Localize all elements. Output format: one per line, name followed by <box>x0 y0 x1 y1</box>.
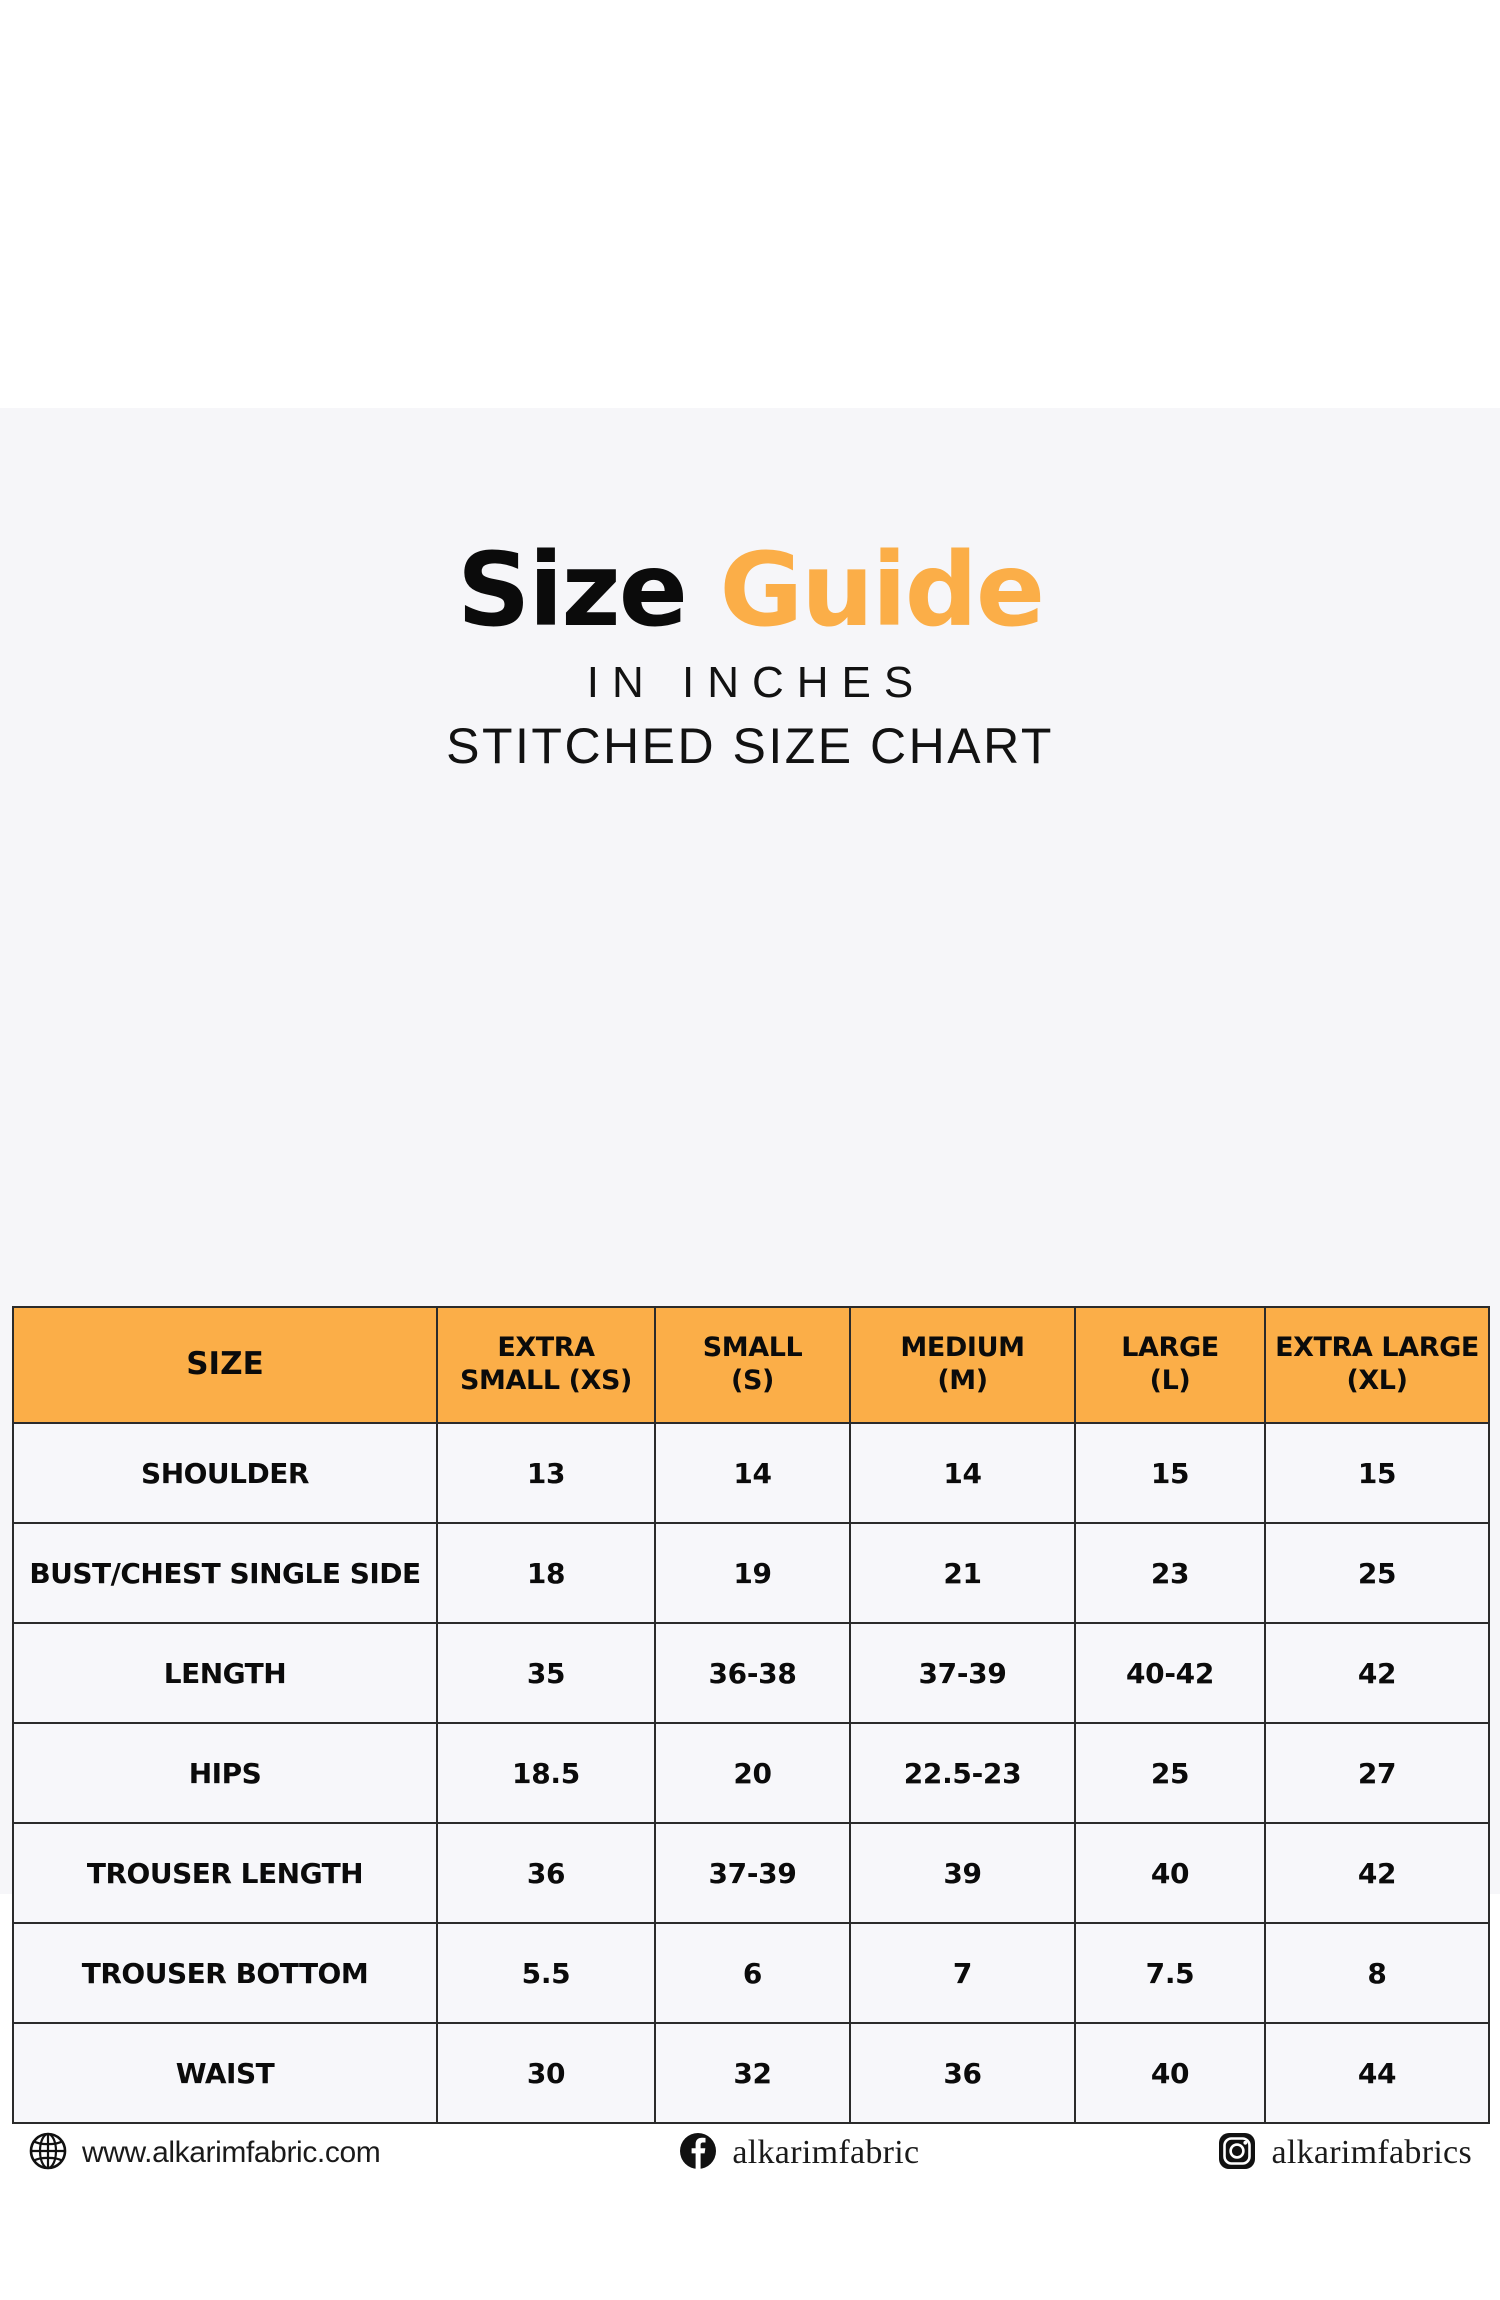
cell-trouser-length-xl: 42 <box>1265 1823 1489 1923</box>
subtitle-chart-type: STITCHED SIZE CHART <box>0 720 1500 773</box>
cell-trouser-bottom-s: 6 <box>655 1923 850 2023</box>
column-header-xs: EXTRA SMALL (XS) <box>437 1307 655 1423</box>
row-label-trouser-bottom: TROUSER BOTTOM <box>13 1923 437 2023</box>
table-row: BUST/CHEST SINGLE SIDE 18 19 21 23 25 <box>13 1523 1489 1623</box>
cell-bust-xs: 18 <box>437 1523 655 1623</box>
footer: www.alkarimfabric.com alkarimfabric <box>0 2108 1500 2198</box>
footer-facebook-label: alkarimfabric <box>732 2134 919 2172</box>
cell-bust-s: 19 <box>655 1523 850 1623</box>
cell-shoulder-m: 14 <box>850 1423 1075 1523</box>
row-label-hips: HIPS <box>13 1723 437 1823</box>
column-header-s-line1: SMALL <box>703 1332 803 1363</box>
cell-hips-xl: 27 <box>1265 1723 1489 1823</box>
row-label-bust-chest: BUST/CHEST SINGLE SIDE <box>13 1523 437 1623</box>
column-header-m-line1: MEDIUM <box>900 1332 1024 1363</box>
cell-hips-m: 22.5-23 <box>850 1723 1075 1823</box>
cell-shoulder-l: 15 <box>1075 1423 1265 1523</box>
cell-shoulder-xl: 15 <box>1265 1423 1489 1523</box>
cell-bust-l: 23 <box>1075 1523 1265 1623</box>
cell-trouser-length-m: 39 <box>850 1823 1075 1923</box>
column-header-xs-line2: SMALL (XS) <box>460 1365 632 1396</box>
column-header-s: SMALL (S) <box>655 1307 850 1423</box>
row-label-length: LENGTH <box>13 1623 437 1723</box>
column-header-size: SIZE <box>13 1307 437 1423</box>
cell-hips-xs: 18.5 <box>437 1723 655 1823</box>
facebook-icon <box>678 2131 718 2176</box>
cell-length-xl: 42 <box>1265 1623 1489 1723</box>
page-title-accent: Guide <box>720 531 1044 650</box>
cell-length-m: 37-39 <box>850 1623 1075 1723</box>
column-header-m-line2: (M) <box>937 1365 987 1396</box>
column-header-m: MEDIUM (M) <box>850 1307 1075 1423</box>
cell-length-l: 40-42 <box>1075 1623 1265 1723</box>
table-body: SHOULDER 13 14 14 15 15 BUST/CHEST SINGL… <box>13 1423 1489 2123</box>
cell-shoulder-s: 14 <box>655 1423 850 1523</box>
footer-facebook[interactable]: alkarimfabric <box>678 2131 919 2176</box>
column-header-l-line2: (L) <box>1150 1365 1191 1396</box>
table-row: TROUSER BOTTOM 5.5 6 7 7.5 8 <box>13 1923 1489 2023</box>
size-table-wrapper: SIZE EXTRA SMALL (XS) SMALL (S) MEDIUM <box>12 1306 1488 2124</box>
cell-trouser-bottom-l: 7.5 <box>1075 1923 1265 2023</box>
cell-trouser-bottom-xs: 5.5 <box>437 1923 655 2023</box>
column-header-xl: EXTRA LARGE (XL) <box>1265 1307 1489 1423</box>
instagram-icon <box>1217 2131 1257 2176</box>
row-label-trouser-length: TROUSER LENGTH <box>13 1823 437 1923</box>
table-header-row: SIZE EXTRA SMALL (XS) SMALL (S) MEDIUM <box>13 1307 1489 1423</box>
column-header-s-line2: (S) <box>731 1365 774 1396</box>
cell-bust-xl: 25 <box>1265 1523 1489 1623</box>
table-row: SHOULDER 13 14 14 15 15 <box>13 1423 1489 1523</box>
size-guide-page: Size Guide IN INCHES STITCHED SIZE CHART <box>0 0 1500 2300</box>
cell-trouser-length-l: 40 <box>1075 1823 1265 1923</box>
column-header-xs-line1: EXTRA <box>497 1332 594 1363</box>
subtitle-units: IN INCHES <box>0 660 1500 706</box>
cell-length-xs: 35 <box>437 1623 655 1723</box>
table-row: LENGTH 35 36-38 37-39 40-42 42 <box>13 1623 1489 1723</box>
size-table: SIZE EXTRA SMALL (XS) SMALL (S) MEDIUM <box>12 1306 1490 2124</box>
column-header-size-line1: SIZE <box>186 1346 264 1382</box>
footer-instagram[interactable]: alkarimfabrics <box>1217 2131 1472 2176</box>
cell-hips-s: 20 <box>655 1723 850 1823</box>
cell-shoulder-xs: 13 <box>437 1423 655 1523</box>
content-panel: Size Guide IN INCHES STITCHED SIZE CHART <box>0 408 1500 1894</box>
page-title-primary: Size <box>457 531 686 650</box>
cell-hips-l: 25 <box>1075 1723 1265 1823</box>
footer-website-label: www.alkarimfabric.com <box>82 2136 380 2170</box>
title-block: Size Guide IN INCHES STITCHED SIZE CHART <box>0 408 1500 773</box>
table-row: TROUSER LENGTH 36 37-39 39 40 42 <box>13 1823 1489 1923</box>
cell-trouser-bottom-xl: 8 <box>1265 1923 1489 2023</box>
footer-instagram-label: alkarimfabrics <box>1271 2134 1472 2172</box>
table-row: HIPS 18.5 20 22.5-23 25 27 <box>13 1723 1489 1823</box>
page-title: Size Guide <box>0 540 1500 642</box>
column-header-l-line1: LARGE <box>1121 1332 1219 1363</box>
footer-website[interactable]: www.alkarimfabric.com <box>28 2131 380 2176</box>
globe-icon <box>28 2131 68 2176</box>
cell-trouser-length-xs: 36 <box>437 1823 655 1923</box>
cell-trouser-length-s: 37-39 <box>655 1823 850 1923</box>
cell-trouser-bottom-m: 7 <box>850 1923 1075 2023</box>
cell-length-s: 36-38 <box>655 1623 850 1723</box>
column-header-xl-line2: (XL) <box>1346 1365 1407 1396</box>
column-header-l: LARGE (L) <box>1075 1307 1265 1423</box>
row-label-shoulder: SHOULDER <box>13 1423 437 1523</box>
table-header: SIZE EXTRA SMALL (XS) SMALL (S) MEDIUM <box>13 1307 1489 1423</box>
column-header-xl-line1: EXTRA LARGE <box>1275 1332 1479 1363</box>
cell-bust-m: 21 <box>850 1523 1075 1623</box>
